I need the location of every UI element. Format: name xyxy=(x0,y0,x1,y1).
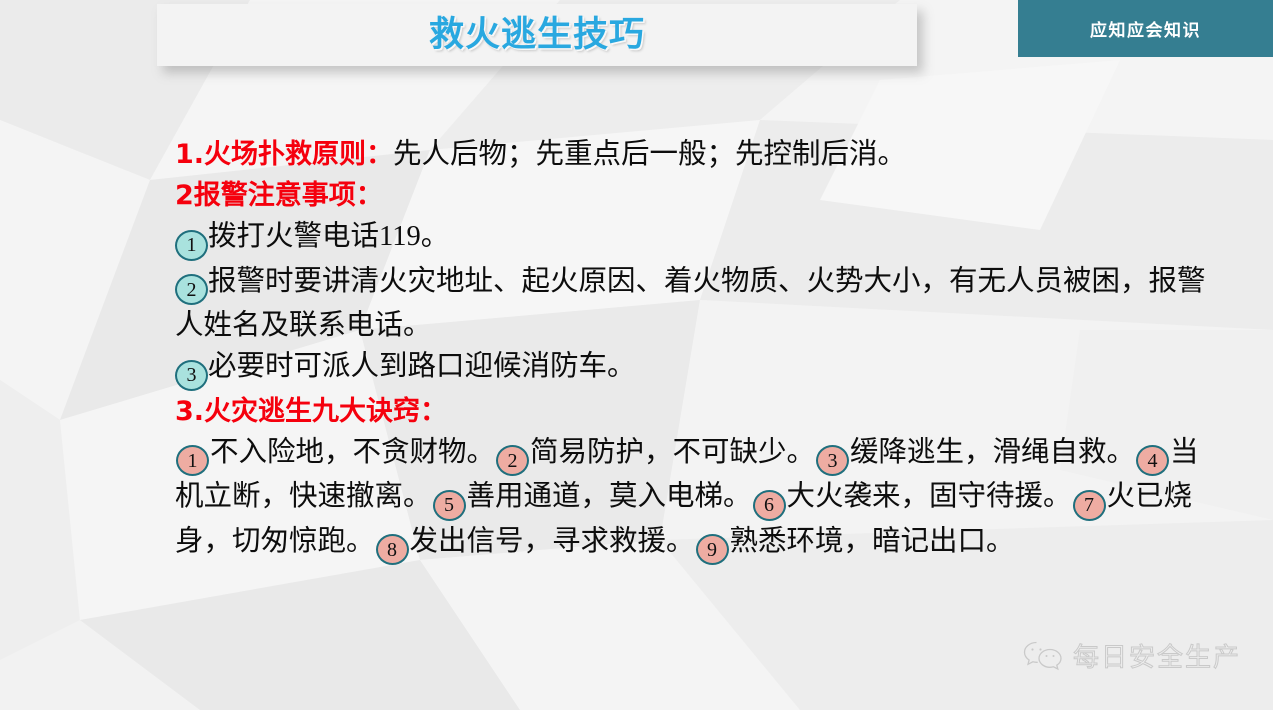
title-card: 救火逃生技巧 xyxy=(157,4,917,66)
number-circle-tip-4: 4 xyxy=(1136,445,1169,476)
number-circle-tip-7: 7 xyxy=(1073,490,1106,521)
section3-heading-line: 3.火灾逃生九大诀窍： xyxy=(175,391,1215,432)
slide-canvas: 救火逃生技巧 应知应会知识 1.火场扑救原则：先人后物；先重点后一般；先控制后消… xyxy=(0,0,1273,710)
page-title: 救火逃生技巧 xyxy=(429,18,645,53)
number-circle-tip-6: 6 xyxy=(753,490,786,521)
number-circle-tip-3: 3 xyxy=(816,445,849,476)
section3-tip-2-text: 简易防护，不可缺少。 xyxy=(530,437,815,468)
section2-item-1-text: 拨打火警电话119。 xyxy=(208,221,449,252)
number-circle-tip-5: 5 xyxy=(433,490,466,521)
section1-line: 1.火场扑救原则：先人后物；先重点后一般；先控制后消。 xyxy=(175,134,1215,175)
section3-tip-8-text: 发出信号，寻求救援。 xyxy=(410,526,695,557)
section1-heading: 1.火场扑救原则： xyxy=(175,139,393,170)
watermark: 每日安全生产 xyxy=(1022,637,1241,674)
section2-item-3-text: 必要时可派人到路口迎候消防车。 xyxy=(208,351,636,382)
number-circle-tip-2: 2 xyxy=(496,445,529,476)
corner-badge: 应知应会知识 xyxy=(1018,0,1273,57)
section2-heading-line: 2报警注意事项： xyxy=(175,175,1215,216)
corner-badge-label: 应知应会知识 xyxy=(1090,16,1201,41)
section3-tips-block: 1不入险地，不贪财物。2简易防护，不可缺少。3缓降逃生，滑绳自救。4当机立断，快… xyxy=(175,432,1220,566)
section1-body: 先人后物；先重点后一般；先控制后消。 xyxy=(393,139,906,170)
section3-tip-1-text: 不入险地，不贪财物。 xyxy=(210,437,495,468)
number-circle-tip-9: 9 xyxy=(696,534,729,565)
number-circle-1: 1 xyxy=(175,230,208,261)
section2-item-3: 3必要时可派人到路口迎候消防车。 xyxy=(175,346,1215,391)
number-circle-tip-8: 8 xyxy=(376,534,409,565)
section3-tip-6-text: 大火袭来，固守待援。 xyxy=(787,481,1072,512)
number-circle-tip-1: 1 xyxy=(176,445,209,476)
section2-item-2-text: 报警时要讲清火灾地址、起火原因、着火物质、火势大小，有无人员被困，报警人姓名及联… xyxy=(175,266,1206,342)
section3-tip-9-text: 熟悉环境，暗记出口。 xyxy=(730,526,1015,557)
section2-heading: 2报警注意事项： xyxy=(175,180,383,211)
section2-item-2: 2报警时要讲清火灾地址、起火原因、着火物质、火势大小，有无人员被困，报警人姓名及… xyxy=(175,261,1215,347)
number-circle-2: 2 xyxy=(175,274,208,305)
wechat-icon xyxy=(1022,640,1064,672)
section3-tip-5-text: 善用通道，莫入电梯。 xyxy=(467,481,752,512)
section3-heading: 3.火灾逃生九大诀窍： xyxy=(175,396,447,427)
watermark-label: 每日安全生产 xyxy=(1073,637,1241,674)
number-circle-3: 3 xyxy=(175,360,208,391)
content-body: 1.火场扑救原则：先人后物；先重点后一般；先控制后消。 2报警注意事项： 1拨打… xyxy=(175,134,1215,565)
section2-item-1: 1拨打火警电话119。 xyxy=(175,216,1215,261)
section3-tip-3-text: 缓降逃生，滑绳自救。 xyxy=(850,437,1135,468)
